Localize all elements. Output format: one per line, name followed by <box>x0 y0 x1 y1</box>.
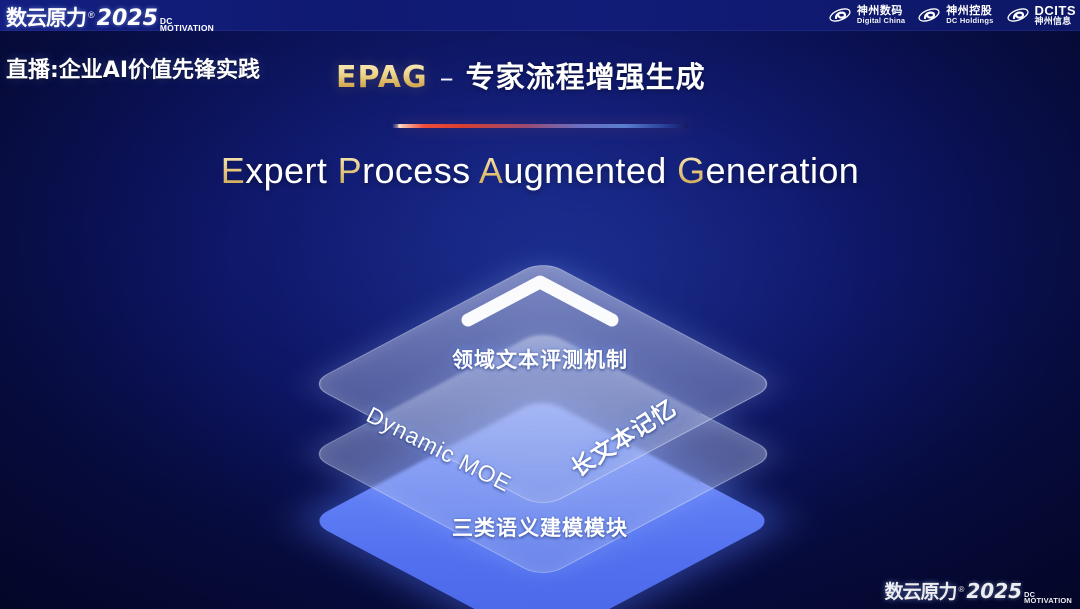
watermark-brand-cn: 数云原力 <box>884 577 956 604</box>
subtitle-initial-a: A <box>479 150 503 191</box>
corner-watermark: 数云原力 ® 2025 DC MOTIVATION <box>884 577 1072 605</box>
title-acronym: EPAG <box>336 60 428 95</box>
page-title: EPAG – 专家流程增强生成 <box>336 54 706 96</box>
brand-dc-motivation: DC MOTIVATION <box>160 18 214 32</box>
live-broadcast-strap: 直播:企业AI价值先锋实践 <box>6 52 260 84</box>
partner-logo-digital-china: 神州数码 Digital China <box>828 2 905 28</box>
stack-label-bottom: 三类语义建模模块 <box>452 512 628 542</box>
brand-year: 2025 <box>97 6 158 31</box>
partner-logo-group: 神州数码 Digital China 神州控股 DC Holdings <box>828 0 1076 30</box>
subtitle-initial-p: P <box>338 150 362 191</box>
stack-label-top: 领域文本评测机制 <box>452 344 628 374</box>
partner-logo-dc-holdings: 神州控股 DC Holdings <box>917 2 993 28</box>
subtitle-word-generation: eneration <box>705 150 859 191</box>
event-brand-logo: 数云原力 ® 2025 DC MOTIVATION <box>6 2 214 33</box>
watermark-dc-motivation: DC MOTIVATION <box>1024 592 1072 604</box>
title-dash: – <box>428 61 466 94</box>
swirl-logo-icon <box>828 4 852 26</box>
partner-logo-text: 神州控股 DC Holdings <box>946 6 993 25</box>
partner-name-cn: 神州信息 <box>1035 17 1077 26</box>
registered-mark: ® <box>88 10 95 20</box>
brand-motivation-line: MOTIVATION <box>160 25 214 32</box>
slide-canvas: 数云原力 ® 2025 DC MOTIVATION 神州数码 Digital C… <box>0 0 1080 609</box>
chevron-up-icon <box>458 272 622 333</box>
swirl-logo-icon <box>1006 4 1030 26</box>
watermark-motivation-line: MOTIVATION <box>1024 598 1072 604</box>
gradient-divider <box>398 124 688 128</box>
title-chinese: 专家流程增强生成 <box>466 54 706 96</box>
header-bar: 数云原力 ® 2025 DC MOTIVATION 神州数码 Digital C… <box>0 0 1080 31</box>
watermark-registered-mark: ® <box>958 585 964 594</box>
subtitle-word-expert: xpert <box>245 150 337 191</box>
subtitle-word-augmented: ugmented <box>503 150 677 191</box>
subtitle-word-process: rocess <box>362 150 479 191</box>
partner-logo-text: DCITS 神州信息 <box>1035 4 1077 26</box>
partner-name-en: Digital China <box>857 17 905 25</box>
brand-name-cn: 数云原力 <box>6 2 86 32</box>
subtitle-expansion: Expert Process Augmented Generation <box>0 150 1080 192</box>
partner-name-en: DC Holdings <box>946 17 993 25</box>
subtitle-initial-g: G <box>677 150 705 191</box>
swirl-logo-icon <box>917 4 941 26</box>
watermark-year: 2025 <box>966 579 1022 603</box>
subtitle-initial-e: E <box>221 150 245 191</box>
partner-logo-dcits: DCITS 神州信息 <box>1006 2 1077 28</box>
partner-logo-text: 神州数码 Digital China <box>857 6 905 25</box>
